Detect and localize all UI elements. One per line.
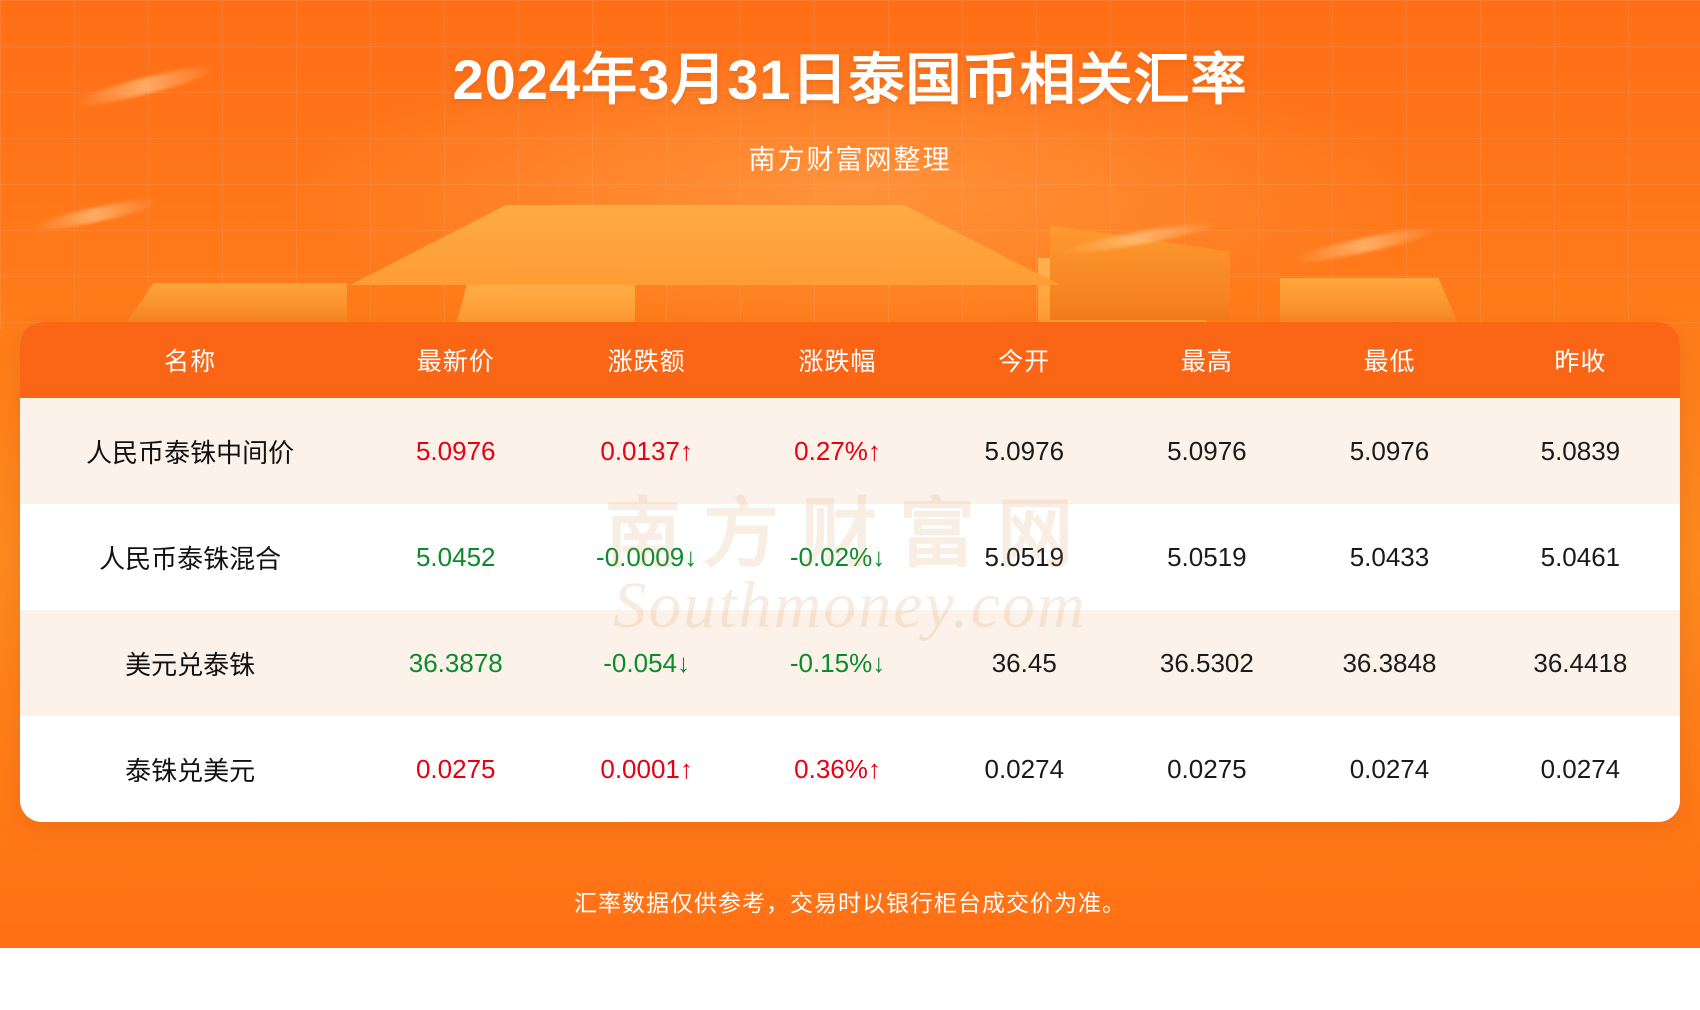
cell-prev-close: 36.4418 (1481, 610, 1680, 716)
bottom-white-band (0, 948, 1700, 1010)
column-header-change[interactable]: 涨跌额 (551, 322, 742, 398)
cell-last-price: 5.0976 (360, 398, 551, 504)
cell-name: 人民币泰铢混合 (20, 504, 360, 610)
cell-high: 5.0519 (1116, 504, 1299, 610)
cell-high: 36.5302 (1116, 610, 1299, 716)
cell-change: -0.0009↓ (551, 504, 742, 610)
table-row[interactable]: 美元兑泰铢 36.3878 -0.054↓ -0.15%↓ 36.45 36.5… (20, 610, 1680, 716)
cell-low: 36.3848 (1298, 610, 1481, 716)
cell-change: -0.054↓ (551, 610, 742, 716)
cell-change-pct: -0.15%↓ (742, 610, 933, 716)
cell-low: 5.0976 (1298, 398, 1481, 504)
table-header: 名称 最新价 涨跌额 涨跌幅 今开 最高 最低 昨收 (20, 322, 1680, 398)
light-streak-decoration (30, 195, 160, 236)
table-header-row: 名称 最新价 涨跌额 涨跌幅 今开 最高 最低 昨收 (20, 322, 1680, 398)
cell-low: 5.0433 (1298, 504, 1481, 610)
cell-high: 0.0275 (1116, 716, 1299, 822)
column-header-name[interactable]: 名称 (20, 322, 360, 398)
cell-open: 0.0274 (933, 716, 1116, 822)
page-header: 2024年3月31日泰国币相关汇率 南方财富网整理 (0, 0, 1700, 177)
column-header-high[interactable]: 最高 (1116, 322, 1299, 398)
cell-prev-close: 0.0274 (1481, 716, 1680, 822)
cell-change-pct: 0.27%↑ (742, 398, 933, 504)
cell-change-pct: 0.36%↑ (742, 716, 933, 822)
column-header-prev-close[interactable]: 昨收 (1481, 322, 1680, 398)
page-subtitle: 南方财富网整理 (0, 138, 1700, 177)
page-title: 2024年3月31日泰国币相关汇率 (0, 48, 1700, 112)
column-header-open[interactable]: 今开 (933, 322, 1116, 398)
column-header-change-pct[interactable]: 涨跌幅 (742, 322, 933, 398)
column-header-low[interactable]: 最低 (1298, 322, 1481, 398)
cell-last-price: 36.3878 (360, 610, 551, 716)
cell-high: 5.0976 (1116, 398, 1299, 504)
cell-prev-close: 5.0839 (1481, 398, 1680, 504)
disclaimer-note: 汇率数据仅供参考，交易时以银行柜台成交价为准。 (0, 884, 1700, 918)
table-row[interactable]: 人民币泰铢混合 5.0452 -0.0009↓ -0.02%↓ 5.0519 5… (20, 504, 1680, 610)
cell-change: 0.0137↑ (551, 398, 742, 504)
cell-name: 人民币泰铢中间价 (20, 398, 360, 504)
cell-open: 5.0519 (933, 504, 1116, 610)
cell-open: 5.0976 (933, 398, 1116, 504)
podium-block-center (350, 205, 1060, 285)
cell-name: 美元兑泰铢 (20, 610, 360, 716)
cell-name: 泰铢兑美元 (20, 716, 360, 822)
table-row[interactable]: 人民币泰铢中间价 5.0976 0.0137↑ 0.27%↑ 5.0976 5.… (20, 398, 1680, 504)
exchange-rate-table: 名称 最新价 涨跌额 涨跌幅 今开 最高 最低 昨收 人民币泰铢中间价 5.09… (20, 322, 1680, 822)
podium-block-far-right (1280, 278, 1460, 328)
column-header-last-price[interactable]: 最新价 (360, 322, 551, 398)
cell-change-pct: -0.02%↓ (742, 504, 933, 610)
exchange-rate-card: 南方财富网 Southmoney.com 名称 最新价 涨跌额 涨跌幅 今开 最… (20, 322, 1680, 822)
table-body: 人民币泰铢中间价 5.0976 0.0137↑ 0.27%↑ 5.0976 5.… (20, 398, 1680, 822)
cell-low: 0.0274 (1298, 716, 1481, 822)
light-streak-decoration (1290, 223, 1440, 268)
cell-prev-close: 5.0461 (1481, 504, 1680, 610)
cell-last-price: 5.0452 (360, 504, 551, 610)
cell-change: 0.0001↑ (551, 716, 742, 822)
cell-last-price: 0.0275 (360, 716, 551, 822)
table-row[interactable]: 泰铢兑美元 0.0275 0.0001↑ 0.36%↑ 0.0274 0.027… (20, 716, 1680, 822)
cell-open: 36.45 (933, 610, 1116, 716)
